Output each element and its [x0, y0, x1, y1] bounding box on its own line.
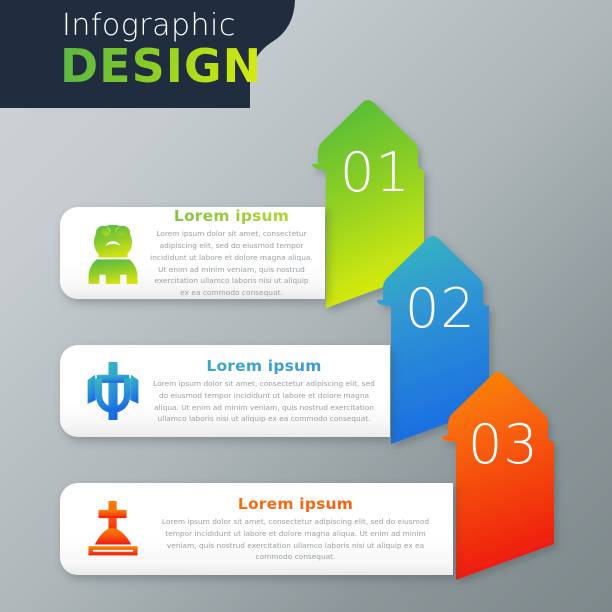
card-1-body: Lorem ipsum dolor sit amet, consectetur … [150, 228, 313, 299]
hippo-face-icon [82, 218, 144, 288]
card-1-heading: Lorem ipsum [150, 207, 313, 225]
card-3-heading: Lorem ipsum [150, 495, 441, 513]
info-card-2[interactable]: Lorem ipsum Lorem ipsum dolor sit amet, … [60, 345, 390, 437]
card-2-body: Lorem ipsum dolor sit amet, consectetur … [150, 378, 378, 426]
priest-stole-cross-icon [82, 356, 144, 426]
infographic-canvas: 01 02 03 [0, 0, 612, 612]
info-card-3[interactable]: Lorem ipsum Lorem ipsum dolor sit amet, … [60, 483, 453, 575]
grave-cross-icon [82, 494, 144, 564]
page-title-line2: DESIGN [60, 39, 262, 93]
header-text-group: Infographic DESIGN [0, 0, 612, 130]
card-2-heading: Lorem ipsum [150, 357, 378, 375]
card-3-body: Lorem ipsum dolor sit amet, consectetur … [150, 516, 441, 564]
page-title-line1: Infographic [62, 8, 236, 43]
info-card-1[interactable]: Lorem ipsum Lorem ipsum dolor sit amet, … [60, 207, 325, 299]
